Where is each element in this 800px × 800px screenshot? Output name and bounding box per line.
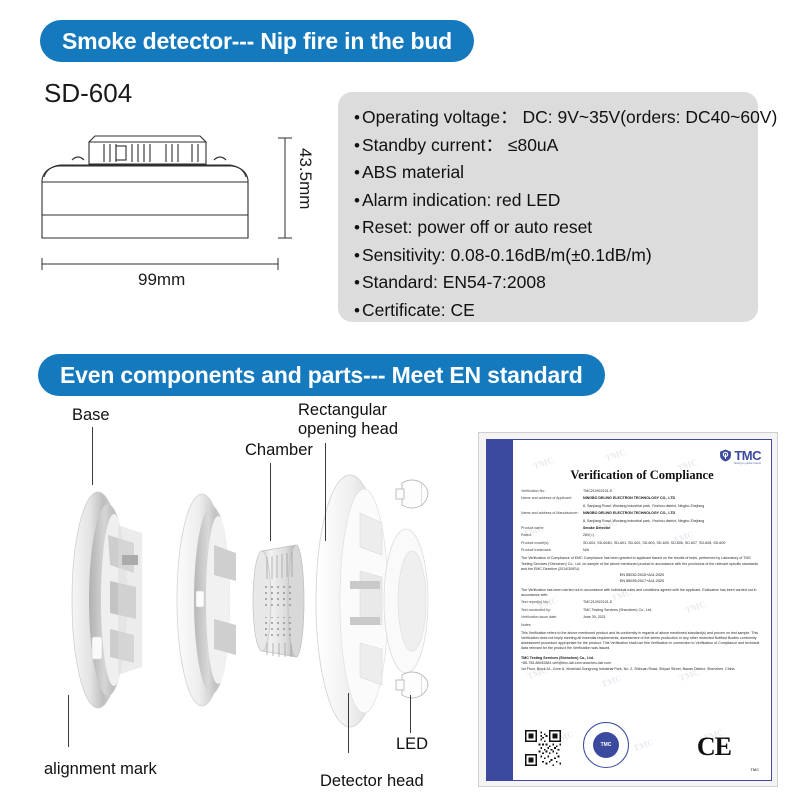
ce-mark-icon: CE: [697, 732, 731, 762]
spec-item-standard: Standard: EN54-7:2008: [338, 269, 758, 297]
cert-row-value: N/A: [583, 548, 763, 553]
part-chamber: [253, 545, 304, 657]
cert-row-value: 28V(=): [583, 533, 763, 538]
cert-row-key: Product trademark:: [521, 548, 583, 553]
certificate-contact: +86-755-88942881 cert@tmc-lab.com www.tm…: [521, 661, 763, 666]
certificate-company: TMC Testing Services (Shenzhen) Co., Ltd…: [521, 656, 763, 661]
cert-row: 8, Sanjiang Road, Wuxiang industrial par…: [521, 504, 763, 509]
qr-code-icon: [525, 730, 561, 766]
callout-rect-head-line2: opening head: [298, 420, 398, 438]
certificate-address: 1st Floor, Block A1, Zone A, Xinshidai G…: [521, 667, 763, 672]
cert-row: Rated: 28V(=): [521, 533, 763, 538]
certificate-footer-brand: TMC: [750, 767, 759, 772]
cert-row: Product name: Smoke Detector: [521, 526, 763, 531]
part-base: [72, 492, 142, 708]
certificate-title: Verification of Compliance: [521, 468, 763, 483]
certificate-field-list: Verification No.: TMC210922101-E Name an…: [521, 489, 763, 553]
watermark-tmc: TMC: [604, 447, 627, 464]
spec-item-operating-voltage: Operating voltage： DC: 9V~35V(orders: DC…: [338, 104, 758, 132]
cert-row-key: Notes:: [521, 623, 583, 628]
cert-row-key: Product name:: [521, 526, 583, 531]
leader-detector-head: [348, 693, 349, 753]
product-model-code: SD-604: [44, 78, 132, 109]
leader-chamber: [270, 463, 271, 541]
section-header-1: Smoke detector--- Nip fire in the bud: [40, 20, 474, 62]
spec-item-reset: Reset: power off or auto reset: [338, 214, 758, 242]
leader-base: [92, 427, 93, 485]
cert-row: Name and address of Manufacturer: NINGBO…: [521, 511, 763, 516]
cert-row: 8, Sanjiang Road, Wuxiang industrial par…: [521, 519, 763, 524]
cert-row: Verification issue date: June 30, 2021: [521, 615, 763, 620]
certificate-standard: EN 55032:2015+A11:2020: [521, 573, 763, 578]
spec-item-alarm-indication: Alarm indication: red LED: [338, 187, 758, 215]
certificate-paragraph-2: The Verification has been carried out in…: [521, 588, 763, 598]
cert-row-value: 8, Sanjiang Road, Wuxiang industrial par…: [583, 519, 763, 524]
product-dimension-drawing: 43.5mm 99mm: [20, 120, 340, 310]
seal-inner-badge: TMC: [593, 732, 619, 758]
cert-row-key: Test report(s) No.:: [521, 600, 583, 605]
tmc-logo: TMC Testing to global market: [719, 448, 761, 463]
cert-row: Notes:: [521, 623, 763, 628]
tmc-brand-text: TMC: [734, 448, 761, 463]
cert-row-key: Verification issue date:: [521, 615, 583, 620]
certificate-paragraph-1: The Verification of Compliance of EMC Co…: [521, 556, 763, 572]
callout-rect-head-line1: Rectangular: [298, 401, 387, 419]
cert-row-key: Rated:: [521, 533, 583, 538]
cert-row-value: NINGBO DELING ELECTRON TECHNOLOGY CO., L…: [583, 511, 763, 516]
leader-alignment-mark: [68, 695, 69, 747]
callout-chamber: Chamber: [245, 441, 313, 460]
certificate-paragraph-3: This Verification refers to the above me…: [521, 631, 763, 652]
callout-detector-head: Detector head: [320, 772, 424, 791]
certification-seal: TMC: [583, 722, 629, 768]
spec-item-certificate: Certificate: CE: [338, 297, 758, 325]
section-header-2-label: Even components and parts--- Meet EN sta…: [60, 362, 583, 389]
callout-alignment-mark: alignment mark: [44, 760, 157, 779]
certificate-sidebar: Verification of compliance Verification …: [487, 440, 513, 780]
cert-row: Test conducted by: TMC Testing Services …: [521, 608, 763, 613]
cert-row: Test report(s) No.: TMC210922101-E: [521, 600, 763, 605]
watermark-tmc: TMC: [600, 673, 623, 690]
cert-row-value: TMC210922101-E: [583, 489, 763, 494]
spec-item-sensitivity: Sensitivity: 0.08-0.16dB/m(±0.1dB/m): [338, 242, 758, 270]
cert-row-key: Name and address of Applicant:: [521, 496, 583, 501]
cert-row-value: [583, 623, 763, 628]
spec-item-standby-current: Standby current： ≤80uA: [338, 132, 758, 160]
cert-row: Name and address of Applicant: NINGBO DE…: [521, 496, 763, 501]
spec-item-material: ABS material: [338, 159, 758, 187]
specifications-panel: Operating voltage： DC: 9V~35V(orders: DC…: [338, 92, 758, 322]
leader-led: [410, 695, 411, 733]
dimension-height-label: 43.5mm: [295, 148, 315, 209]
tmc-shield-icon: [719, 449, 732, 462]
cert-row: Product model(s): SD-604, SD-604D, SD-60…: [521, 541, 763, 546]
certificate-page: Verification of compliance Verification …: [486, 439, 772, 781]
section-header-2: Even components and parts--- Meet EN sta…: [38, 354, 605, 396]
tmc-brand-sub: Testing to global market: [734, 462, 761, 465]
cert-row: Verification No.: TMC210922101-E: [521, 489, 763, 494]
cert-row-key: Verification No.:: [521, 489, 583, 494]
cert-row-key: Test conducted by:: [521, 608, 583, 613]
cert-row-key: Name and address of Manufacturer:: [521, 511, 583, 516]
callout-rectangular-opening-head: Rectangular opening head: [298, 401, 398, 439]
cert-row-key: [521, 504, 583, 509]
cert-row-value: TMC Testing Services (Shenzhen) Co., Ltd…: [583, 608, 763, 613]
cert-row-value: SD-604, SD-604D, SD-601, SD-602, SD-603,…: [583, 541, 763, 546]
cert-row-value: Smoke Detector: [583, 526, 763, 531]
certificate-standard: EN 55035:2017+A11:2020: [521, 579, 763, 584]
cert-row-value: June 30, 2021: [583, 615, 763, 620]
certificate-footer-marks: TMC CE TMC: [521, 712, 765, 774]
callout-base: Base: [72, 406, 110, 425]
cert-row-key: Product model(s):: [521, 541, 583, 546]
certificate-field-list-2: Test report(s) No.: TMC210922101-E Test …: [521, 600, 763, 627]
part-mounting-ring: [177, 494, 236, 706]
exploded-parts-diagram: Base Chamber Rectangular opening head al…: [30, 405, 470, 795]
certificate-image: Verification of compliance Verification …: [478, 432, 778, 787]
callout-led: LED: [396, 735, 428, 754]
cert-row-value: NINGBO DELING ELECTRON TECHNOLOGY CO., L…: [583, 496, 763, 501]
cert-row-value: 8, Sanjiang Road, Wuxiang industrial par…: [583, 504, 763, 509]
leader-rect-head: [325, 443, 326, 541]
dimension-width-label: 99mm: [138, 270, 185, 290]
section-header-1-label: Smoke detector--- Nip fire in the bud: [62, 28, 452, 55]
cert-row-key: [521, 519, 583, 524]
cert-row: Product trademark: N/A: [521, 548, 763, 553]
cert-row-value: TMC210922101-E: [583, 600, 763, 605]
